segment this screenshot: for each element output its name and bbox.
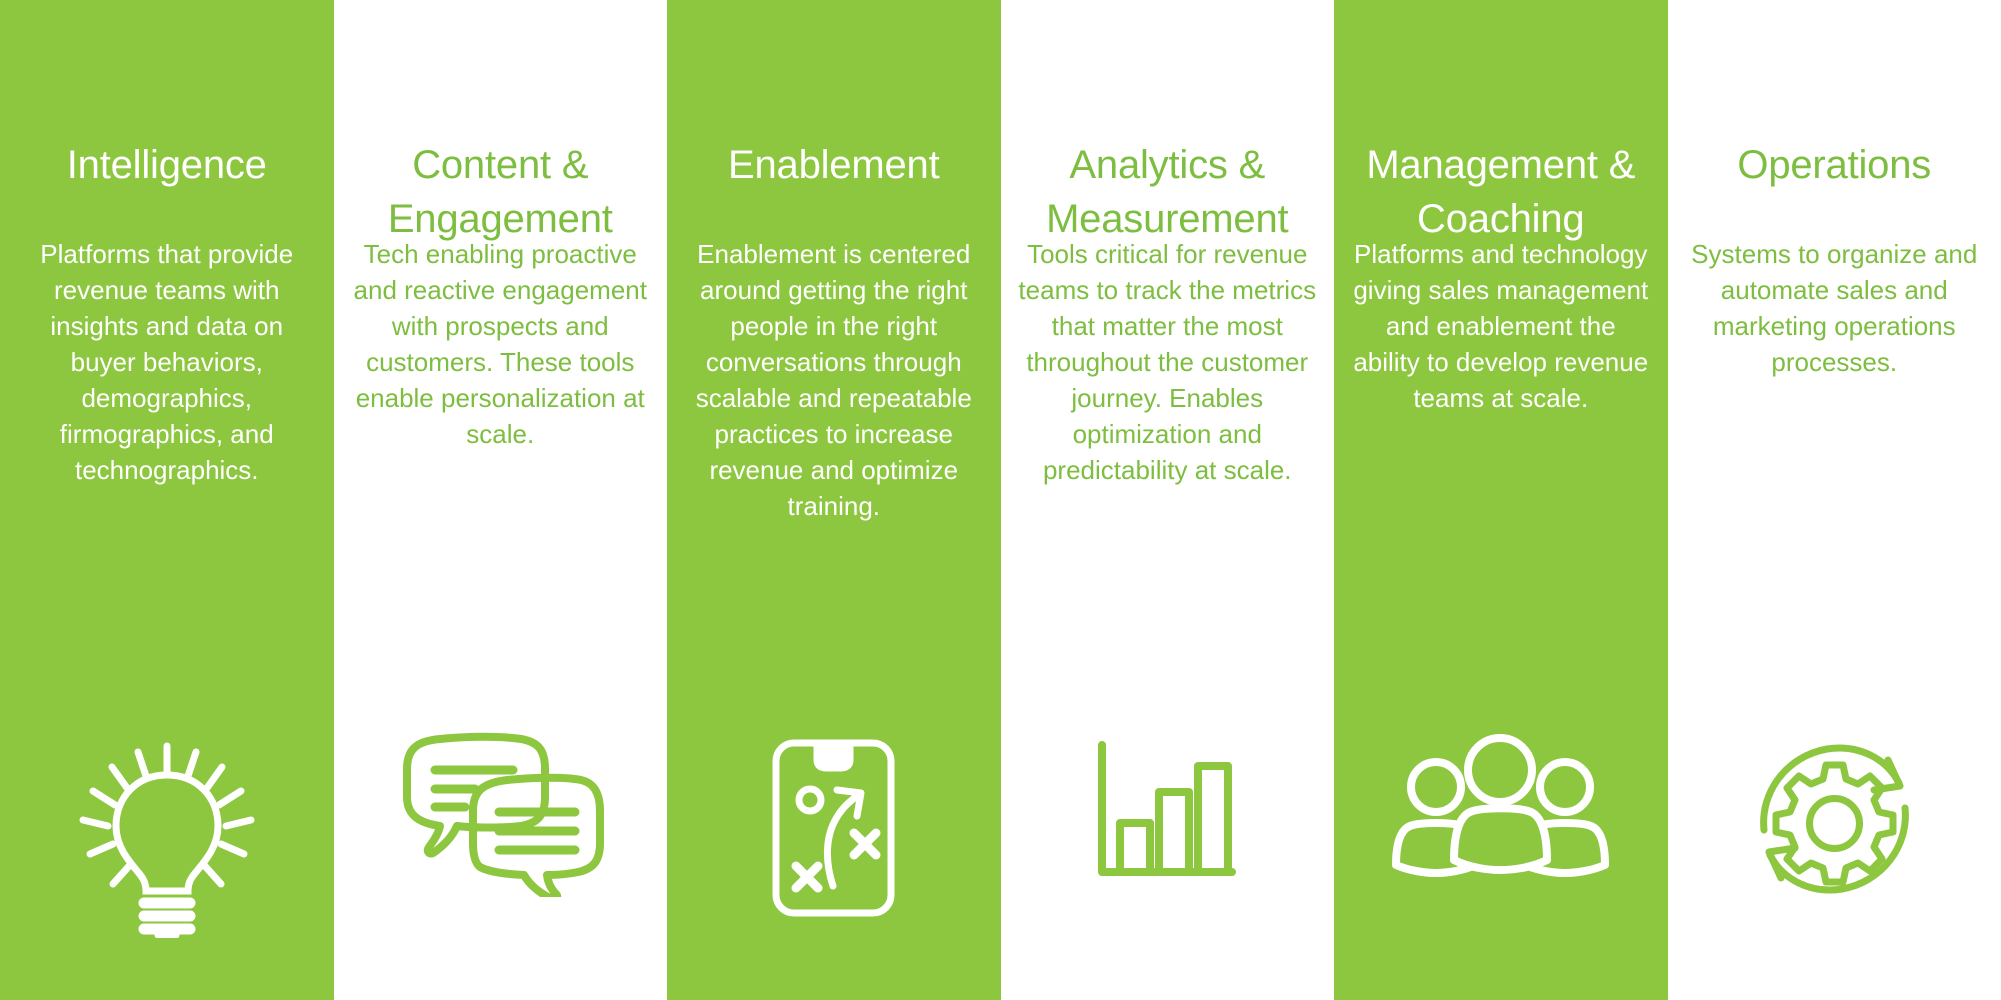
- lightbulb-icon: [47, 728, 287, 948]
- category-column-enablement: Enablement Enablement is centered around…: [667, 0, 1001, 1000]
- bar-chart-icon: [1047, 700, 1287, 920]
- category-description-analytics-measurement: Tools critical for revenue teams to trac…: [1017, 236, 1317, 488]
- category-column-management-coaching: Management & Coaching Platforms and tech…: [1334, 0, 1668, 1000]
- category-title-management-coaching: Management & Coaching: [1351, 138, 1651, 246]
- category-column-content-engagement: Content & Engagement Tech enabling proac…: [334, 0, 668, 1000]
- category-title-enablement: Enablement: [684, 138, 984, 192]
- gear-refresh-icon: [1714, 708, 1954, 928]
- category-title-operations: Operations: [1684, 138, 1984, 192]
- category-column-operations: Operations Systems to organize and autom…: [1668, 0, 2001, 1000]
- category-column-analytics-measurement: Analytics & Measurement Tools critical f…: [1001, 0, 1335, 1000]
- category-description-management-coaching: Platforms and technology giving sales ma…: [1351, 236, 1651, 416]
- category-column-intelligence: Intelligence Platforms that provide reve…: [0, 0, 334, 1000]
- category-title-content-engagement: Content & Engagement: [350, 138, 650, 246]
- chat-bubbles-icon: [380, 702, 620, 922]
- strategy-playbook-icon: [714, 718, 954, 938]
- category-description-operations: Systems to organize and automate sales a…: [1684, 236, 1984, 380]
- revenue-tech-categories-board: Intelligence Platforms that provide reve…: [0, 0, 2001, 1000]
- category-description-content-engagement: Tech enabling proactive and reactive eng…: [350, 236, 650, 452]
- people-group-icon: [1381, 694, 1621, 914]
- category-title-analytics-measurement: Analytics & Measurement: [1017, 138, 1317, 246]
- category-description-enablement: Enablement is centered around getting th…: [684, 236, 984, 524]
- category-description-intelligence: Platforms that provide revenue teams wit…: [17, 236, 317, 488]
- category-title-intelligence: Intelligence: [17, 138, 317, 192]
